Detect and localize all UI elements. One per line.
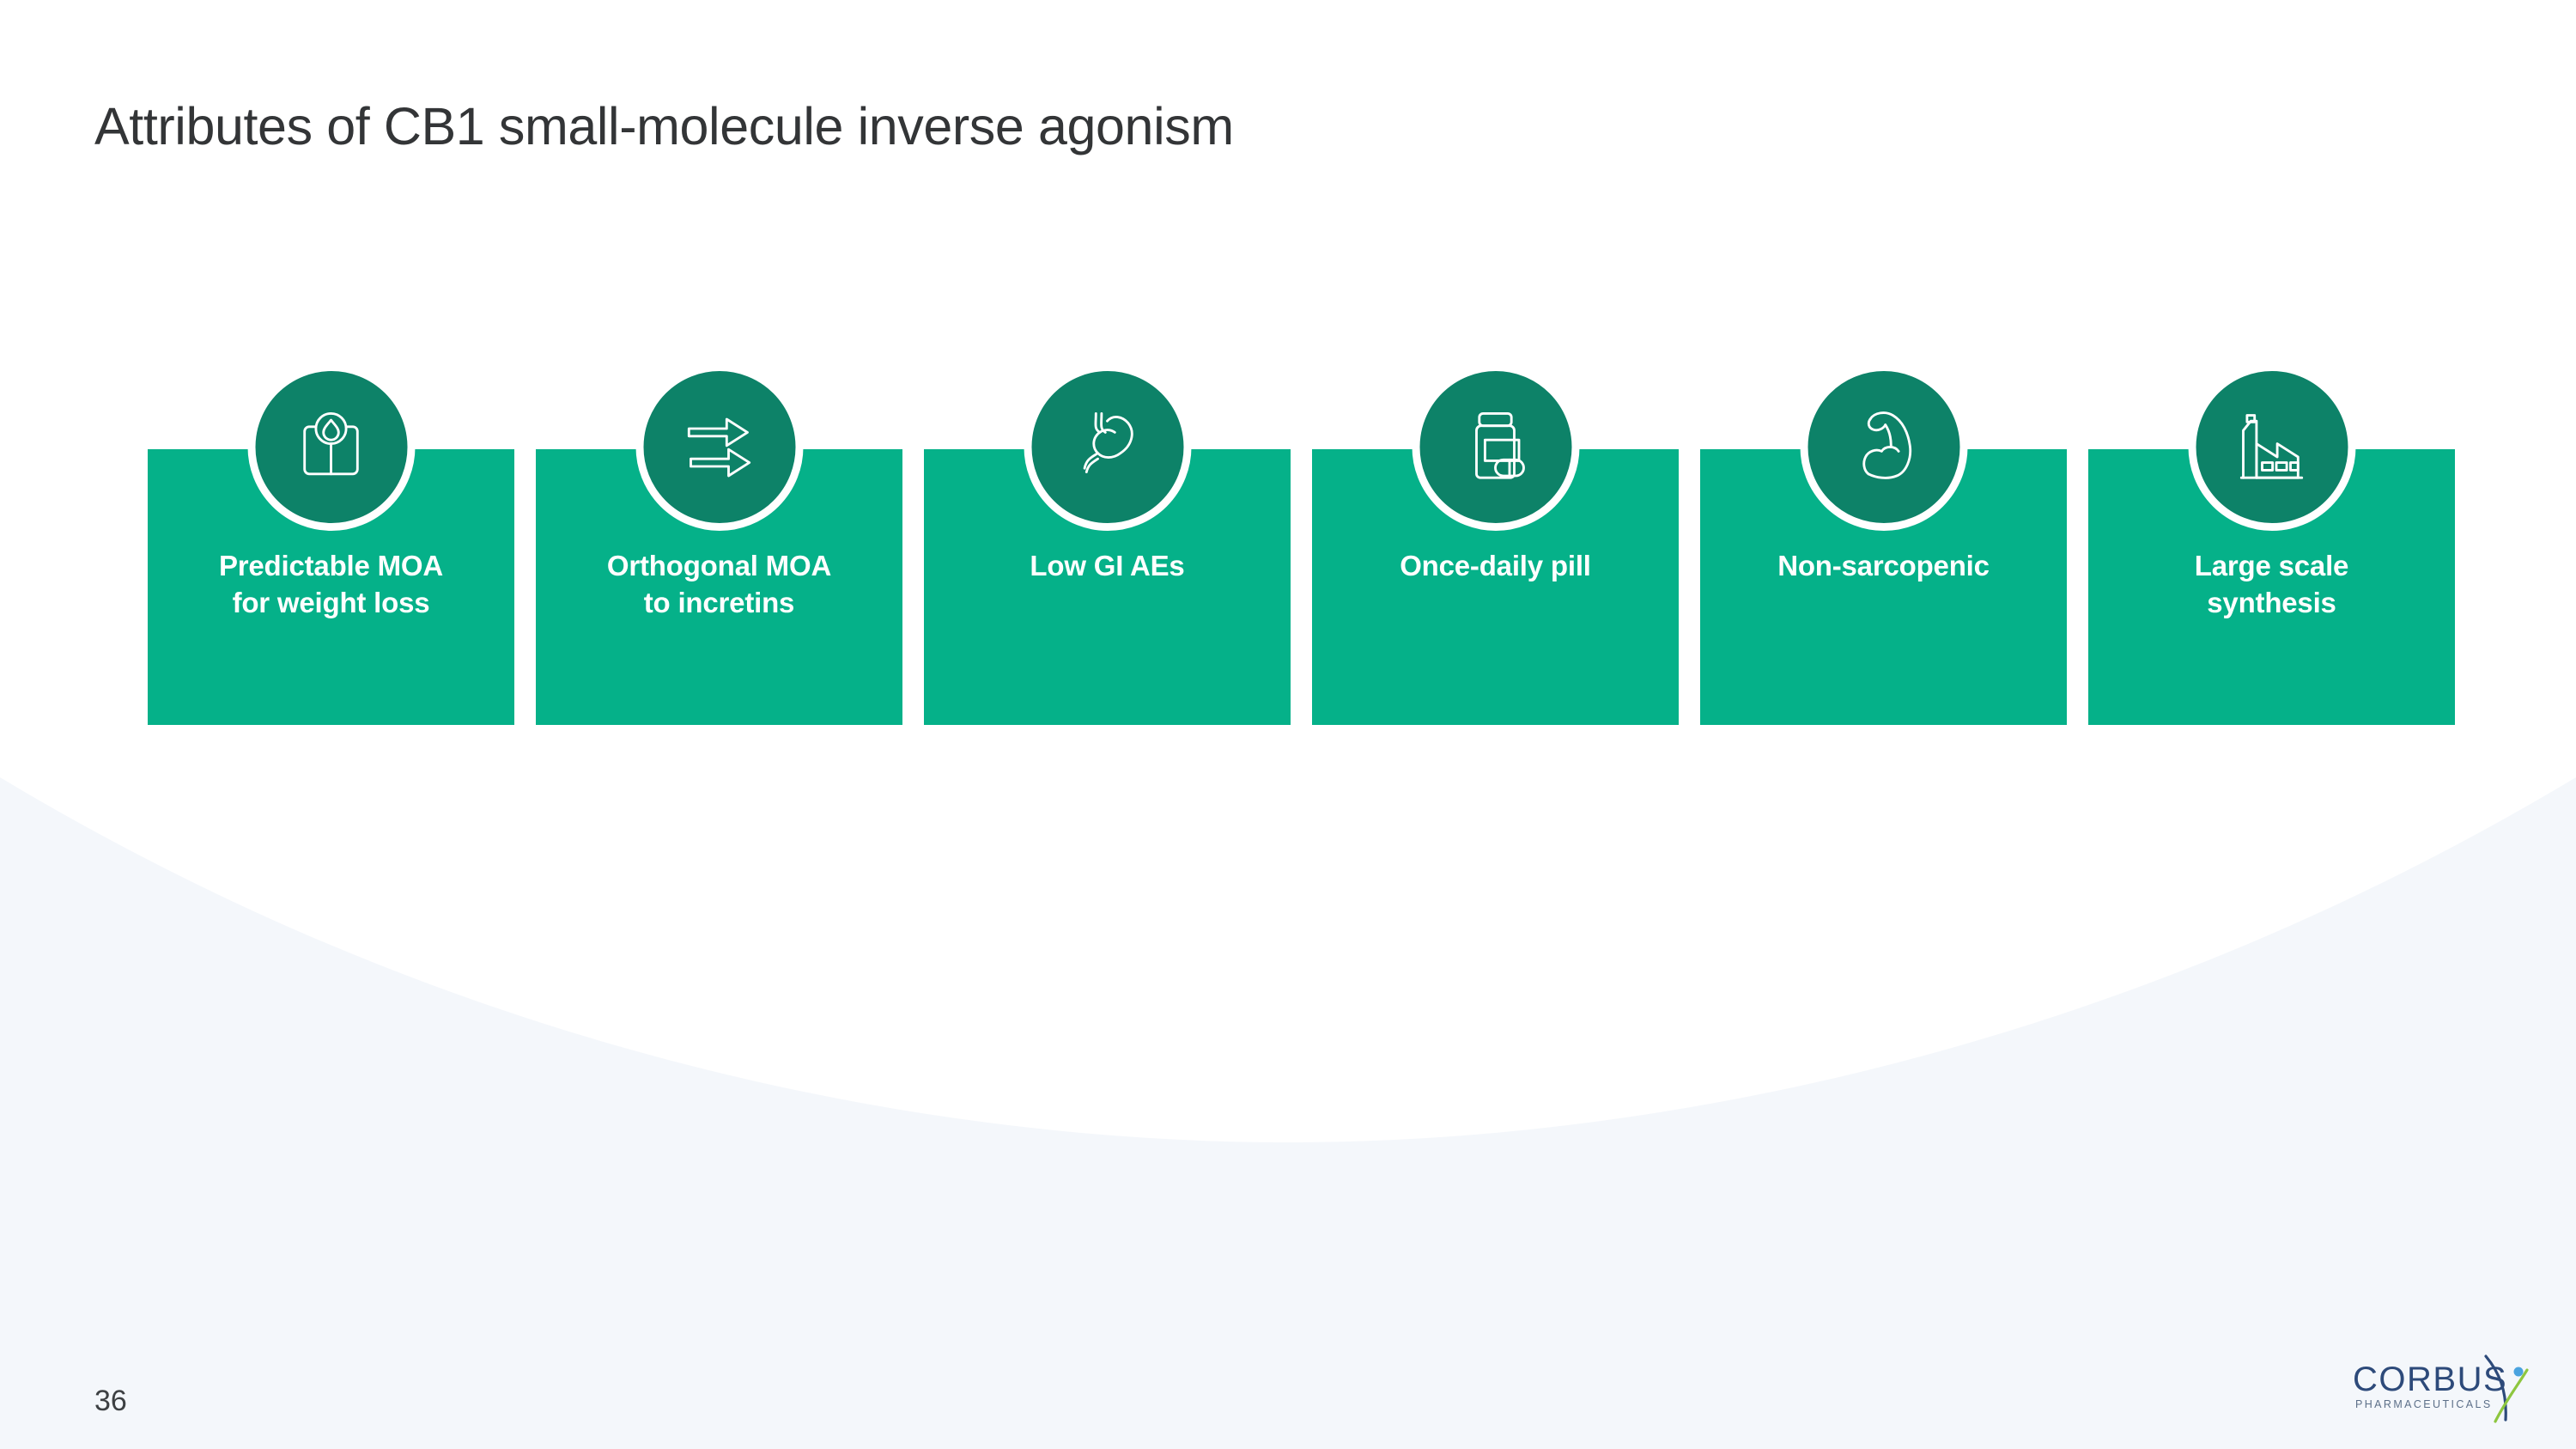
attribute-card-label: Predictable MOA for weight loss [162,548,500,622]
attribute-card-label: Large scale synthesis [2103,548,2440,622]
pill-bottle-icon [1412,363,1579,531]
weight-scale-icon [247,363,415,531]
parallel-arrows-icon [635,363,803,531]
page-title: Attributes of CB1 small-molecule inverse… [94,96,1234,156]
logo-dot [2514,1367,2524,1377]
logo-tagline: PHARMACEUTICALS [2355,1398,2493,1410]
factory-icon [2188,363,2355,531]
attribute-card-label: Low GI AEs [939,548,1276,585]
attribute-card-non-sarcopenic[interactable]: Non-sarcopenic [1700,449,2067,725]
attribute-card-label: Once-daily pill [1327,548,1664,585]
attribute-card-large-scale-synthesis[interactable]: Large scale synthesis [2088,449,2455,725]
attribute-card-label: Non-sarcopenic [1715,548,2052,585]
attributes-card-row: Predictable MOA for weight loss Orthogon… [148,449,2455,725]
attribute-card-orthogonal-moa[interactable]: Orthogonal MOA to incretins [536,449,902,725]
attribute-card-label: Orthogonal MOA to incretins [550,548,888,622]
logo-wordmark: CORBUS [2353,1361,2507,1398]
corbus-logo: CORBUS PHARMACEUTICALS [2353,1353,2550,1434]
flexed-bicep-icon [1800,363,1967,531]
stomach-icon [1024,363,1191,531]
attribute-card-once-daily-pill[interactable]: Once-daily pill [1312,449,1679,725]
attribute-card-predictable-moa[interactable]: Predictable MOA for weight loss [148,449,514,725]
page-number: 36 [94,1385,127,1418]
attribute-card-low-gi-aes[interactable]: Low GI AEs [924,449,1291,725]
slide-root: Attributes of CB1 small-molecule inverse… [0,0,2576,1449]
